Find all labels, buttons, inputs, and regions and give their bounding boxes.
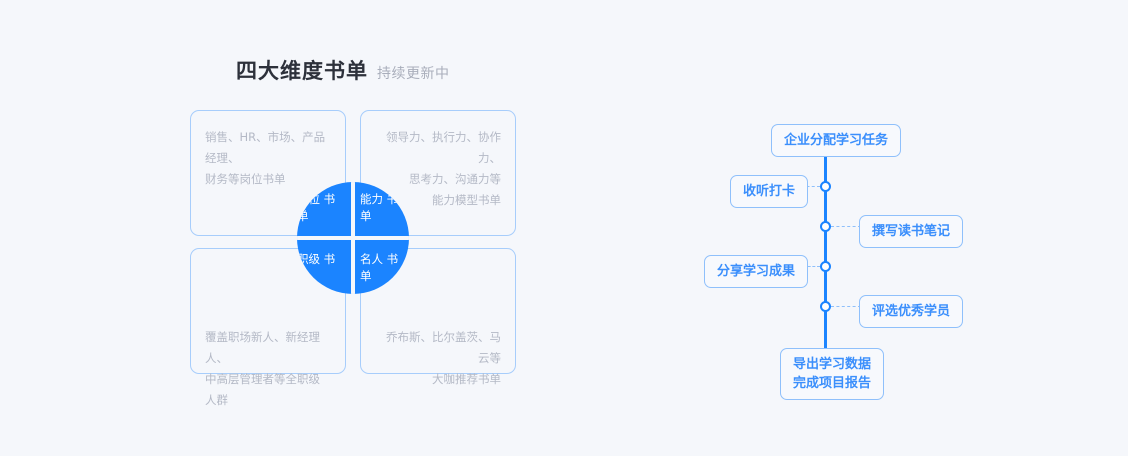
timeline-node-dot-2 [820,221,831,232]
circle-label-rank-books[interactable]: 职级 书单 [297,238,353,294]
circle-divider-horizontal [297,236,409,240]
circle-label-ability-books[interactable]: 能力 书单 [353,182,409,238]
quadrant-text-top-left: 销售、HR、市场、产品经理、 财务等岗位书单 [205,127,331,190]
timeline-step-1-label[interactable]: 收听打卡 [730,175,808,208]
timeline-end-node-label[interactable]: 导出学习数据 完成项目报告 [780,348,884,400]
quadrant-text-bottom-right: 乔布斯、比尔盖茨、马云等 大咖推荐书单 [375,327,501,390]
timeline-step-4-label[interactable]: 评选优秀学员 [859,295,963,328]
circle-label-position-books[interactable]: 岗位 书单 [297,182,353,238]
timeline-step-2-label[interactable]: 撰写读书笔记 [859,215,963,248]
timeline-connector-2 [831,226,861,227]
timeline-node-dot-3 [820,261,831,272]
left-panel-title: 四大维度书单 [236,55,368,85]
left-panel-heading: 四大维度书单 持续更新中 [236,55,450,85]
quadrant-text-bottom-left: 覆盖职场新人、新经理人、 中高层管理者等全职级人群 [205,327,331,411]
learning-path-timeline: 企业分配学习任务 收听打卡 撰写读书笔记 分享学习成果 评选优秀学员 导出学习数… [700,0,1128,456]
reading-plan-panel: 共读计划 完整学习路径 企业分配学习任务 收听打卡 撰写读书笔记 分享学习成果 … [700,0,1128,456]
left-panel-subtitle: 持续更新中 [377,63,450,83]
center-circle-graphic: 岗位 书单 能力 书单 职级 书单 名人 书单 [297,182,409,294]
timeline-start-node-label[interactable]: 企业分配学习任务 [771,124,901,157]
timeline-connector-4 [831,306,861,307]
timeline-step-3-label[interactable]: 分享学习成果 [704,255,808,288]
circle-label-celebrity-books[interactable]: 名人 书单 [353,238,409,294]
book-list-dimensions-panel: 四大维度书单 持续更新中 销售、HR、市场、产品经理、 财务等岗位书单 领导力、… [0,0,700,456]
quadrant-matrix: 销售、HR、市场、产品经理、 财务等岗位书单 领导力、执行力、协作力、 思考力、… [190,110,516,374]
timeline-node-dot-4 [820,301,831,312]
timeline-node-dot-1 [820,181,831,192]
